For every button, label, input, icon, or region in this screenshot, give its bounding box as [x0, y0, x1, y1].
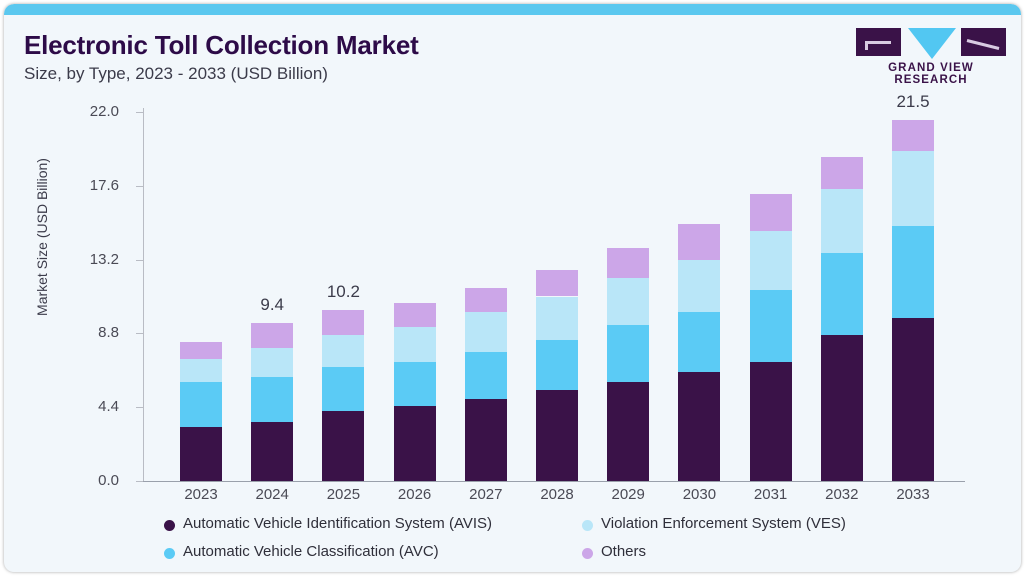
bar-segment-2023-s1[interactable] — [180, 382, 222, 427]
x-axis-tick-label: 2028 — [522, 486, 592, 503]
bar-segment-2033-s2[interactable] — [892, 151, 934, 226]
bar-segment-2029-s1[interactable] — [607, 325, 649, 382]
bar-segment-2032-s1[interactable] — [821, 253, 863, 335]
chart-card: Electronic Toll Collection Market Size, … — [4, 4, 1021, 572]
bar-segment-2029-s0[interactable] — [607, 382, 649, 481]
bar-segment-2028-s3[interactable] — [536, 270, 578, 297]
y-axis-label: Market Size (USD Billion) — [34, 107, 50, 367]
y-axis-tick-label: 13.2 — [59, 251, 119, 268]
x-axis-tick-label: 2026 — [380, 486, 450, 503]
x-axis-tick-label: 2031 — [736, 486, 806, 503]
legend-swatch-icon — [582, 520, 593, 531]
x-axis-tick-label: 2027 — [451, 486, 521, 503]
bar-segment-2026-s1[interactable] — [394, 362, 436, 406]
bar-segment-2029-s3[interactable] — [607, 248, 649, 278]
legend-swatch-icon — [582, 548, 593, 559]
y-axis-tick-mark — [136, 112, 143, 113]
bar-segment-2024-s0[interactable] — [251, 422, 293, 481]
bar-segment-2027-s1[interactable] — [465, 352, 507, 399]
x-axis-tick-label: 2032 — [807, 486, 877, 503]
bar-segment-2026-s0[interactable] — [394, 406, 436, 481]
bar-segment-2026-s3[interactable] — [394, 303, 436, 326]
legend-label: Automatic Vehicle Classification (AVC) — [183, 543, 439, 560]
x-axis-tick-label: 2025 — [308, 486, 378, 503]
data-label-2025: 10.2 — [298, 282, 388, 302]
bar-segment-2032-s2[interactable] — [821, 189, 863, 253]
bar-segment-2031-s0[interactable] — [750, 362, 792, 481]
bar-segment-2030-s2[interactable] — [678, 260, 720, 312]
bar-segment-2033-s1[interactable] — [892, 226, 934, 318]
y-axis-tick-mark — [136, 333, 143, 334]
bar-segment-2023-s2[interactable] — [180, 359, 222, 382]
bar-segment-2033-s3[interactable] — [892, 120, 934, 150]
y-axis-tick-mark — [136, 481, 143, 482]
legend-label: Automatic Vehicle Identification System … — [183, 515, 492, 532]
bar-segment-2028-s1[interactable] — [536, 340, 578, 390]
y-axis-tick-mark — [136, 260, 143, 261]
bar-segment-2024-s2[interactable] — [251, 348, 293, 377]
bar-segment-2032-s3[interactable] — [821, 157, 863, 189]
bar-segment-2025-s0[interactable] — [322, 411, 364, 481]
bar-segment-2032-s0[interactable] — [821, 335, 863, 481]
bar-segment-2031-s2[interactable] — [750, 231, 792, 290]
data-label-2033: 21.5 — [868, 92, 958, 112]
bar-segment-2030-s1[interactable] — [678, 312, 720, 372]
bar-segment-2028-s0[interactable] — [536, 390, 578, 481]
x-axis-tick-label: 2024 — [237, 486, 307, 503]
x-axis-tick-label: 2033 — [878, 486, 948, 503]
legend-label: Violation Enforcement System (VES) — [601, 515, 846, 532]
bar-segment-2027-s0[interactable] — [465, 399, 507, 481]
bar-segment-2029-s2[interactable] — [607, 278, 649, 325]
bar-segment-2027-s3[interactable] — [465, 288, 507, 311]
bar-segment-2026-s2[interactable] — [394, 327, 436, 362]
y-axis-tick-mark — [136, 407, 143, 408]
bar-chart: Market Size (USD Billion) 0.04.48.813.21… — [4, 4, 1021, 572]
bar-segment-2031-s3[interactable] — [750, 194, 792, 231]
bar-segment-2024-s1[interactable] — [251, 377, 293, 422]
bar-segment-2028-s2[interactable] — [536, 297, 578, 341]
bar-segment-2023-s0[interactable] — [180, 427, 222, 481]
x-axis-tick-label: 2030 — [664, 486, 734, 503]
y-axis-tick-label: 17.6 — [59, 177, 119, 194]
y-axis-tick-label: 22.0 — [59, 103, 119, 120]
bar-segment-2030-s0[interactable] — [678, 372, 720, 481]
bar-segment-2027-s2[interactable] — [465, 312, 507, 352]
bar-segment-2025-s1[interactable] — [322, 367, 364, 411]
bar-segment-2033-s0[interactable] — [892, 318, 934, 481]
bar-segment-2031-s1[interactable] — [750, 290, 792, 362]
bar-segment-2030-s3[interactable] — [678, 224, 720, 259]
bar-segment-2023-s3[interactable] — [180, 342, 222, 359]
y-axis-tick-label: 0.0 — [59, 472, 119, 489]
x-axis-tick-label: 2029 — [593, 486, 663, 503]
y-axis-tick-mark — [136, 186, 143, 187]
y-axis-tick-label: 8.8 — [59, 324, 119, 341]
y-axis-line — [143, 108, 144, 482]
bar-segment-2024-s3[interactable] — [251, 323, 293, 348]
legend-swatch-icon — [164, 548, 175, 559]
x-axis-tick-label: 2023 — [166, 486, 236, 503]
y-axis-tick-label: 4.4 — [59, 398, 119, 415]
bar-segment-2025-s2[interactable] — [322, 335, 364, 367]
legend-swatch-icon — [164, 520, 175, 531]
legend-label: Others — [601, 543, 646, 560]
bar-segment-2025-s3[interactable] — [322, 310, 364, 335]
